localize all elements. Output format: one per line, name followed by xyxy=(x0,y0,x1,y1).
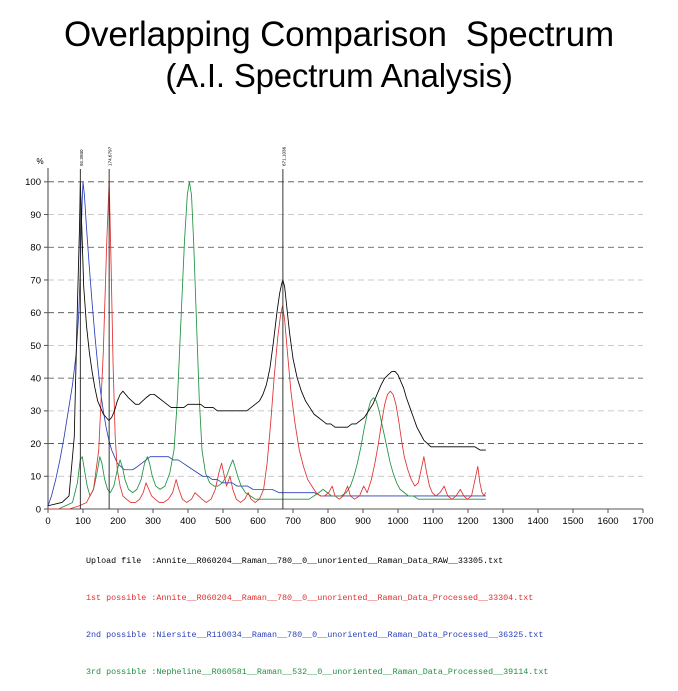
x-tick-label-900: 900 xyxy=(355,516,371,525)
legend-label-upload: Upload file xyxy=(86,556,151,566)
x-tick-label-1000: 1000 xyxy=(387,516,408,525)
y-tick-label-30: 30 xyxy=(30,406,41,417)
title-line-secondary: (A.I. Spectrum Analysis) xyxy=(0,56,678,96)
y-tick-label-70: 70 xyxy=(30,275,41,286)
legend-row-upload: Upload file :Annite__R060204__Raman__780… xyxy=(86,555,646,567)
x-tick-label-1600: 1600 xyxy=(597,516,618,525)
x-tick-label-800: 800 xyxy=(320,516,336,525)
y-tick-label-40: 40 xyxy=(30,374,41,385)
x-tick-label-700: 700 xyxy=(285,516,301,525)
legend-label-second-possible: 2nd possible xyxy=(86,630,151,640)
x-tick-label-0: 0 xyxy=(45,516,50,525)
legend-row-second-possible: 2nd possible :Niersite__R110034__Raman__… xyxy=(86,629,646,641)
legend-label-first-possible: 1st possible xyxy=(86,593,151,603)
x-tick-label-1100: 1100 xyxy=(423,516,443,525)
spectrum-chart: 92.3930174.6797671.1036 0102030405060708… xyxy=(0,145,678,594)
x-tick-label-1500: 1500 xyxy=(562,516,583,525)
x-tick-label-500: 500 xyxy=(215,516,231,525)
x-tick-label-100: 100 xyxy=(75,516,91,525)
y-tick-label-50: 50 xyxy=(30,341,41,352)
x-tick-label-200: 200 xyxy=(110,516,126,525)
peak-marker-label-1: 174.6797 xyxy=(108,146,113,166)
x-tick-label-1300: 1300 xyxy=(492,516,513,525)
y-tick-label-100: 100 xyxy=(25,177,41,188)
series-line-upload-file xyxy=(48,182,486,506)
x-tick-label-600: 600 xyxy=(250,516,266,525)
series-line-2nd-possible xyxy=(48,182,486,506)
legend-value-second-possible: :Niersite__R110034__Raman__780__0__unori… xyxy=(151,630,543,640)
y-tick-label-90: 90 xyxy=(30,210,41,221)
peak-markers-group: 92.3930174.6797671.1036 xyxy=(79,146,287,509)
legend-value-upload: :Annite__R060204__Raman__780__0__unorien… xyxy=(151,556,503,566)
y-tick-label-60: 60 xyxy=(30,308,41,319)
y-axis-unit-label: % xyxy=(36,157,43,166)
y-tick-label-0: 0 xyxy=(36,504,41,515)
x-tick-label-1200: 1200 xyxy=(457,516,478,525)
peak-marker-label-2: 671.1036 xyxy=(281,146,286,166)
y-tick-label-10: 10 xyxy=(30,472,41,483)
x-tick-label-1700: 1700 xyxy=(632,516,653,525)
x-tick-label-1400: 1400 xyxy=(527,516,548,525)
peak-marker-label-0: 92.3930 xyxy=(79,149,84,166)
x-tick-label-300: 300 xyxy=(145,516,161,525)
gridlines-group xyxy=(48,182,643,509)
legend-label-third-possible: 3rd possible xyxy=(86,667,151,677)
y-tick-label-20: 20 xyxy=(30,439,41,450)
axes-group xyxy=(44,168,643,513)
y-tick-label-80: 80 xyxy=(30,243,41,254)
file-legend: Upload file :Annite__R060204__Raman__780… xyxy=(86,530,646,691)
title-line-primary: Overlapping Comparison Spectrum xyxy=(0,14,678,56)
tick-labels-group: 0102030405060708090100%01002003004005006… xyxy=(25,157,653,525)
legend-value-first-possible: :Annite__R060204__Raman__780__0__unorien… xyxy=(151,593,533,603)
legend-value-third-possible: :Nepheline__R060581__Raman__532__0__unor… xyxy=(151,667,548,677)
spectrum-plot-svg: 92.3930174.6797671.1036 0102030405060708… xyxy=(0,145,678,525)
legend-row-third-possible: 3rd possible :Nepheline__R060581__Raman_… xyxy=(86,666,646,678)
page-title: Overlapping Comparison Spectrum (A.I. Sp… xyxy=(0,14,678,96)
x-tick-label-400: 400 xyxy=(180,516,196,525)
